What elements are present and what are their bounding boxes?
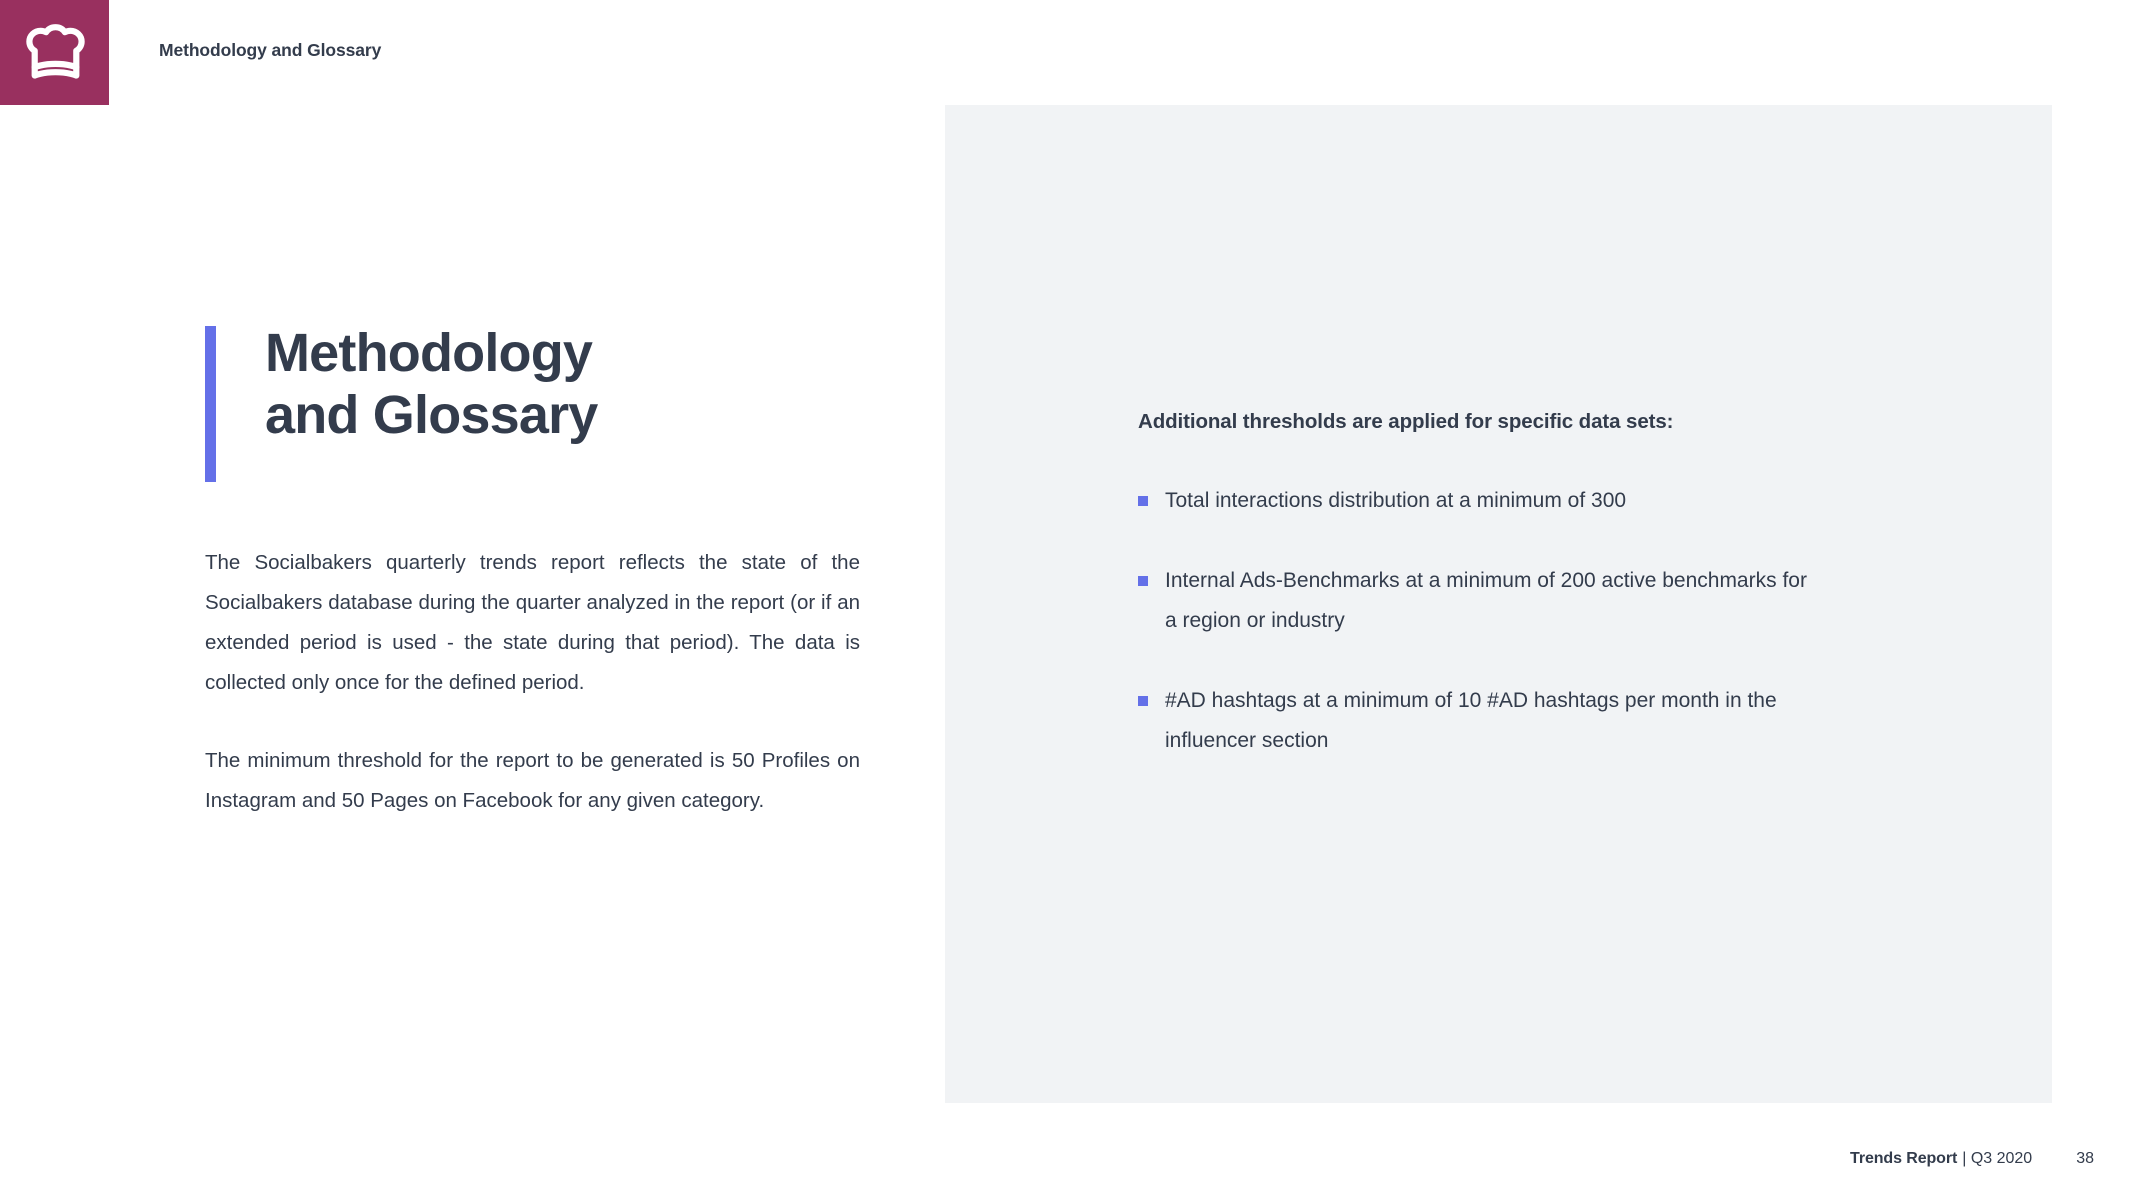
thresholds-list: Total interactions distribution at a min…	[1138, 481, 1938, 761]
list-item-label: #AD hashtags at a minimum of 10 #AD hash…	[1165, 689, 1777, 752]
bullet-square-icon	[1138, 496, 1148, 506]
body-paragraph: The Socialbakers quarterly trends report…	[205, 543, 860, 703]
page-number: 38	[2076, 1150, 2094, 1168]
bullet-square-icon	[1138, 696, 1148, 706]
page-title-line-2: and Glossary	[265, 384, 895, 446]
title-accent-bar	[205, 326, 216, 482]
brand-logo-tile[interactable]	[0, 0, 109, 105]
bullet-square-icon	[1138, 576, 1148, 586]
list-item: Internal Ads-Benchmarks at a minimum of …	[1138, 561, 1818, 641]
panel-content: Additional thresholds are applied for sp…	[1138, 410, 1938, 761]
list-item-label: Total interactions distribution at a min…	[1165, 489, 1626, 512]
header-title: Methodology and Glossary	[159, 40, 381, 61]
chef-hat-icon	[22, 22, 88, 84]
thresholds-panel: Additional thresholds are applied for sp…	[945, 105, 2052, 1103]
slide: Methodology and Glossary Methodology and…	[0, 0, 2133, 1200]
list-item: Total interactions distribution at a min…	[1138, 481, 1818, 521]
list-item: #AD hashtags at a minimum of 10 #AD hash…	[1138, 681, 1818, 761]
page-title: Methodology and Glossary	[265, 322, 895, 446]
footer-report-label: Trends Report	[1850, 1150, 1957, 1168]
footer-meta: | Q3 2020	[1962, 1150, 2032, 1168]
footer: Trends Report | Q3 2020 38	[1850, 1150, 2094, 1168]
left-content-column: Methodology and Glossary The Socialbaker…	[205, 322, 895, 821]
panel-heading: Additional thresholds are applied for sp…	[1138, 410, 1938, 434]
body-paragraphs: The Socialbakers quarterly trends report…	[205, 543, 895, 821]
list-item-label: Internal Ads-Benchmarks at a minimum of …	[1165, 569, 1807, 632]
page-title-line-1: Methodology	[265, 322, 895, 384]
body-paragraph: The minimum threshold for the report to …	[205, 741, 860, 821]
page-title-block: Methodology and Glossary	[205, 322, 895, 446]
